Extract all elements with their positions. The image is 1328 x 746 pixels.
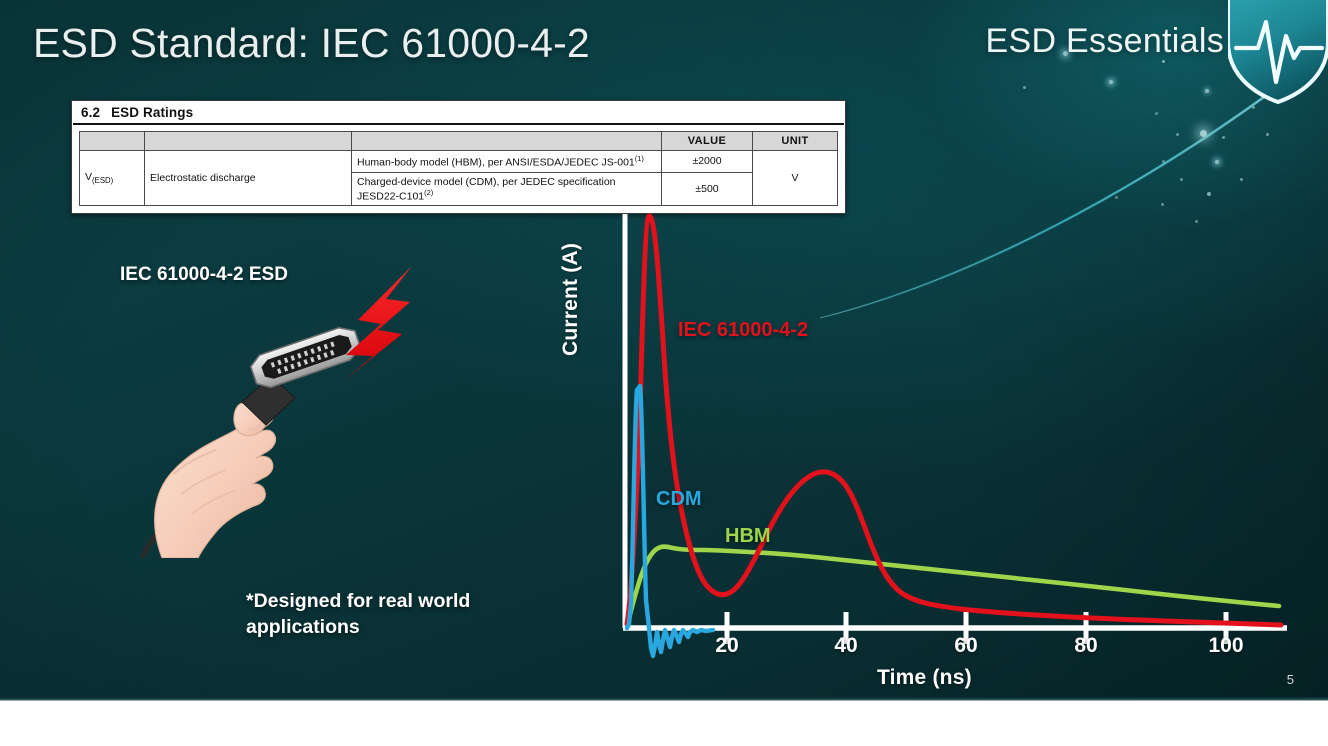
- x-tick-60: 60: [954, 634, 977, 658]
- cell-condition-hbm: Human-body model (HBM), per ANSI/ESDA/JE…: [352, 151, 662, 173]
- illustration-note: *Designed for real world applications: [246, 589, 546, 641]
- chart-x-axis-label: Time (ns): [877, 666, 972, 690]
- sparkle-dot: [1205, 89, 1209, 93]
- sparkle-dot: [1207, 192, 1211, 196]
- page-title: ESD Standard: IEC 61000-4-2: [33, 20, 590, 67]
- header-parameter: [145, 132, 352, 151]
- sparkle-dot: [1115, 196, 1118, 199]
- condition-note: (2): [424, 188, 433, 197]
- header-value: VALUE: [662, 132, 753, 151]
- x-tick-40: 40: [834, 634, 857, 658]
- cell-parameter: Electrostatic discharge: [145, 151, 352, 206]
- sparkle-dot: [1180, 178, 1183, 181]
- table-header-row: VALUE UNIT: [80, 132, 838, 151]
- sparkle-dot: [1023, 86, 1026, 89]
- table-caption-title: ESD Ratings: [111, 105, 193, 120]
- chart-plot-area: [565, 200, 1295, 700]
- brand-title: ESD Essentials: [985, 22, 1224, 61]
- sparkle-dot: [1240, 178, 1243, 181]
- symbol-subscript: (ESD): [92, 176, 113, 185]
- sparkle-dot: [1176, 133, 1179, 136]
- slide-footer: TEXAS INSTRUMENTS: [0, 701, 1328, 746]
- header-condition: [352, 132, 662, 151]
- slide-background: ESD Standard: IEC 61000-4-2 ESD Essentia…: [0, 0, 1328, 701]
- x-tick-100: 100: [1208, 634, 1243, 658]
- page-number: 5: [1287, 672, 1294, 687]
- cell-unit: V: [753, 151, 838, 206]
- sparkle-dot: [1162, 160, 1165, 163]
- ratings-grid: VALUE UNIT V(ESD) Electrostatic discharg…: [79, 131, 838, 206]
- sparkle-dot: [1155, 112, 1158, 115]
- series-label-hbm: HBM: [725, 525, 771, 548]
- x-tick-20: 20: [715, 634, 738, 658]
- sparkle-dot: [1109, 80, 1113, 84]
- series-label-iec: IEC 61000-4-2: [678, 319, 808, 342]
- x-tick-80: 80: [1074, 634, 1097, 658]
- sparkle-dot: [1266, 133, 1269, 136]
- esd-ratings-table: 6.2ESD Ratings VALUE UNIT V(ESD) Electro…: [71, 100, 846, 214]
- sparkle-dot: [1222, 136, 1225, 139]
- header-symbol: [80, 132, 145, 151]
- shield-pulse-icon: [1228, 0, 1328, 104]
- sparkle-dot: [1200, 130, 1207, 137]
- symbol-text: V: [85, 171, 92, 183]
- sparkle-dot: [1215, 160, 1219, 164]
- condition-note: (1): [635, 154, 644, 163]
- condition-text: Human-body model (HBM), per ANSI/ESDA/JE…: [357, 157, 635, 169]
- header-unit: UNIT: [753, 132, 838, 151]
- hand-with-connector-illustration: [90, 258, 430, 558]
- table-caption: 6.2ESD Ratings: [73, 101, 844, 125]
- cell-symbol: V(ESD): [80, 151, 145, 206]
- esd-waveform-chart: Current (A) 20 40 6: [565, 200, 1295, 700]
- sparkle-dot: [1252, 106, 1255, 109]
- cell-value-hbm: ±2000: [662, 151, 753, 173]
- series-label-cdm: CDM: [656, 488, 702, 511]
- slide-root: ESD Standard: IEC 61000-4-2 ESD Essentia…: [0, 0, 1328, 746]
- table-caption-number: 6.2: [81, 105, 100, 120]
- table-row: V(ESD) Electrostatic discharge Human-bod…: [80, 151, 838, 173]
